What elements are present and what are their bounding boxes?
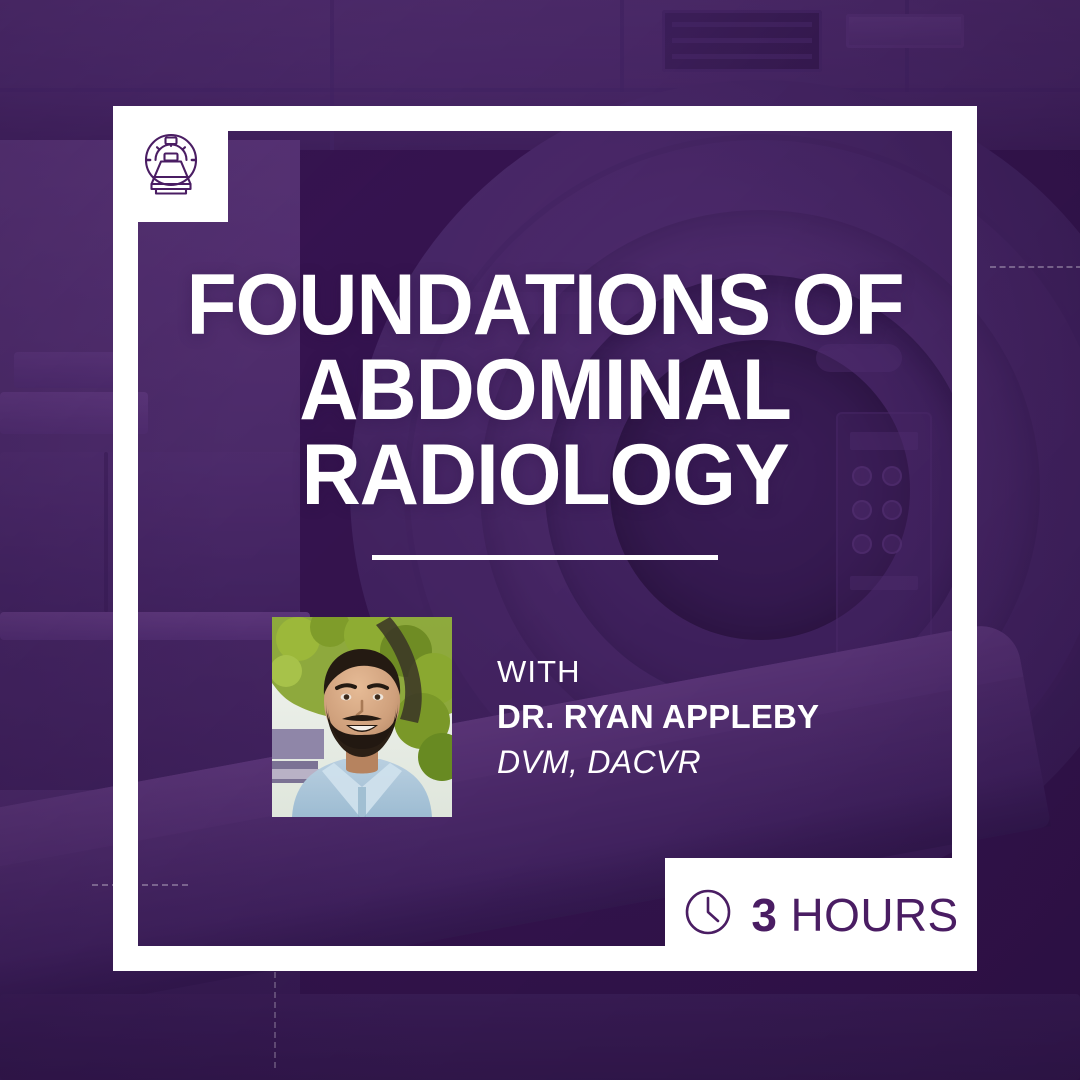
clock-icon: [683, 887, 733, 942]
course-promo-poster: FOUNDATIONS OF ABDOMINAL RADIOLOGY: [0, 0, 1080, 1080]
avatar: [272, 617, 452, 817]
poster-content: FOUNDATIONS OF ABDOMINAL RADIOLOGY: [138, 131, 952, 946]
presenter-text: WITH DR. RYAN APPLEBY DVM, DACVR: [497, 652, 819, 783]
page-title: FOUNDATIONS OF ABDOMINAL RADIOLOGY: [156, 263, 933, 518]
duration-text: 3 HOURS: [751, 892, 958, 938]
duration-unit: HOURS: [791, 889, 959, 941]
title-line-2: ABDOMINAL: [156, 348, 933, 433]
title-line-3: RADIOLOGY: [156, 433, 933, 518]
registration-guide: [990, 266, 1080, 268]
presenter-credentials: DVM, DACVR: [497, 742, 819, 784]
headshot-photo: [272, 617, 452, 817]
presenter-block: WITH DR. RYAN APPLEBY DVM, DACVR: [138, 617, 952, 817]
duration-unit-spacer: [777, 889, 790, 941]
duration-badge: 3 HOURS: [665, 858, 977, 971]
title-line-1: FOUNDATIONS OF: [156, 263, 933, 348]
presenter-name: DR. RYAN APPLEBY: [497, 696, 819, 739]
registration-guide: [274, 972, 276, 1068]
duration-value: 3: [751, 889, 777, 941]
title-divider: [372, 555, 718, 560]
with-label: WITH: [497, 652, 819, 692]
